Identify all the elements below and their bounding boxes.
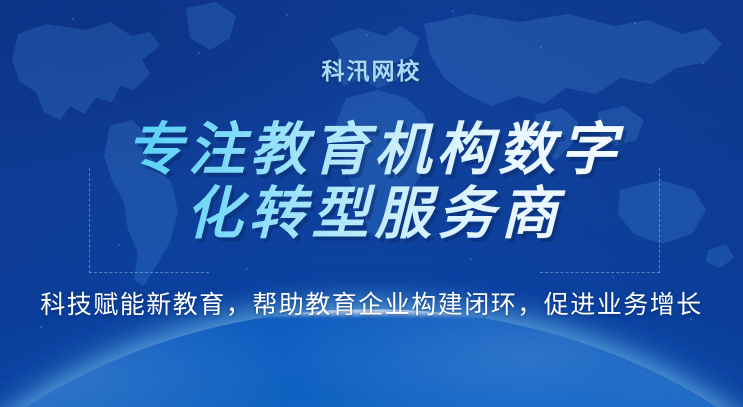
headline-line-1: 专注教育机构数字 bbox=[0, 118, 743, 182]
banner-hero: 科汛网校 专注教育机构数字 化转型服务商 科技赋能新教育，帮助教育企业构建闭环，… bbox=[0, 0, 743, 407]
headline-line-2: 化转型服务商 bbox=[0, 182, 743, 246]
banner-content: 科汛网校 专注教育机构数字 化转型服务商 科技赋能新教育，帮助教育企业构建闭环，… bbox=[0, 0, 743, 407]
headline: 专注教育机构数字 化转型服务商 bbox=[0, 118, 743, 246]
subtitle: 科技赋能新教育，帮助教育企业构建闭环，促进业务增长 bbox=[0, 289, 743, 321]
brand-name: 科汛网校 bbox=[0, 58, 743, 84]
